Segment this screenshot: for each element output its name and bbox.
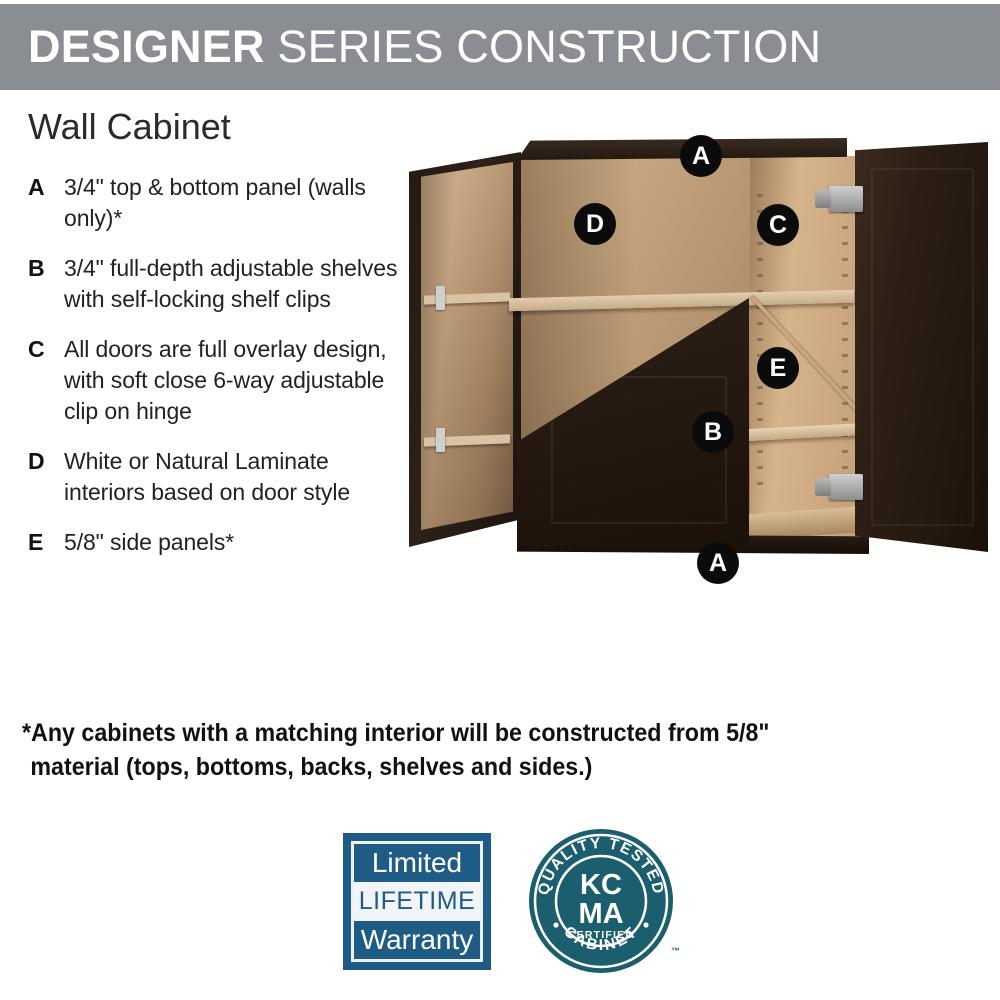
spec-list: A 3/4" top & bottom panel (walls only)* …: [28, 172, 408, 577]
spec-item-a: A 3/4" top & bottom panel (walls only)*: [28, 172, 408, 234]
spec-letter-d: D: [28, 446, 64, 508]
svg-text:CERTIFIED: CERTIFIED: [568, 929, 634, 941]
spec-item-e: E 5/8" side panels*: [28, 527, 408, 558]
shelf-clip-lower: [436, 428, 445, 452]
page-title-strong: DESIGNER: [28, 21, 265, 72]
cabinet-left-interior-laminate: [421, 162, 513, 530]
spec-item-b: B 3/4" full-depth adjustable shelves wit…: [28, 253, 408, 315]
spec-text-b: 3/4" full-depth adjustable shelves with …: [64, 253, 408, 315]
spec-letter-b: B: [28, 253, 64, 315]
spec-letter-c: C: [28, 334, 64, 427]
kcma-seal-icon: QUALITY TESTED CABINET KC MA CERTIFIED: [528, 828, 674, 974]
spec-letter-a: A: [28, 172, 64, 234]
callout-e[interactable]: E: [757, 347, 799, 389]
cabinet-open-door[interactable]: [855, 142, 988, 552]
svg-text:KC: KC: [580, 869, 622, 901]
callout-d[interactable]: D: [574, 203, 616, 245]
section-title: Wall Cabinet: [28, 106, 231, 148]
spec-text-e: 5/8" side panels*: [64, 527, 234, 558]
footnote-line-2: material (tops, bottoms, backs, shelves …: [22, 750, 915, 784]
kcma-trademark-symbol: ™: [671, 946, 680, 956]
shelf-pin-holes-right: [842, 194, 848, 494]
callout-a-bottom[interactable]: A: [697, 542, 739, 584]
warranty-line-warranty: Warranty: [354, 921, 480, 959]
limited-lifetime-warranty-badge: Limited LIFETIME Warranty: [343, 833, 491, 970]
svg-text:MA: MA: [578, 898, 623, 930]
spec-item-c: C All doors are full overlay design, wit…: [28, 334, 408, 427]
door-hinge-top-icon: [829, 186, 863, 212]
callout-c[interactable]: C: [757, 204, 799, 246]
warranty-line-limited: Limited: [354, 844, 480, 882]
callout-a-top[interactable]: A: [680, 135, 722, 177]
shelf-clip-upper: [436, 286, 445, 310]
page-header-bar: DESIGNER SERIES CONSTRUCTION: [0, 4, 1000, 90]
spec-text-d: White or Natural Laminate interiors base…: [64, 446, 408, 508]
footnote: *Any cabinets with a matching interior w…: [22, 716, 915, 784]
spec-letter-e: E: [28, 527, 64, 558]
spec-text-c: All doors are full overlay design, with …: [64, 334, 408, 427]
warranty-badge-inner: Limited LIFETIME Warranty: [351, 841, 483, 962]
wall-cabinet-illustration: [405, 138, 995, 568]
callout-b[interactable]: B: [692, 411, 734, 453]
footnote-line-1: *Any cabinets with a matching interior w…: [22, 719, 769, 747]
spec-item-d: D White or Natural Laminate interiors ba…: [28, 446, 408, 508]
page-title: DESIGNER SERIES CONSTRUCTION: [28, 21, 821, 73]
warranty-line-lifetime: LIFETIME: [354, 882, 480, 920]
door-hinge-bottom-icon: [829, 474, 863, 500]
spec-text-a: 3/4" top & bottom panel (walls only)*: [64, 172, 408, 234]
kcma-certified-badge: QUALITY TESTED CABINET KC MA CERTIFIED ™: [528, 828, 674, 974]
page-title-light: SERIES CONSTRUCTION: [265, 21, 822, 72]
